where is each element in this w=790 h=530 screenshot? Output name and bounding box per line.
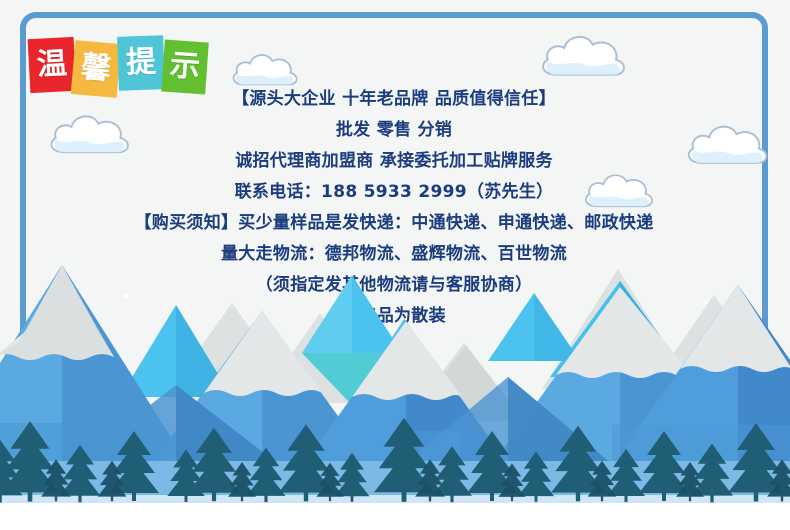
cloud-top-right xyxy=(536,28,636,83)
promo-line-1: 【源头大企业 十年老品牌 品质值得信任】 xyxy=(20,84,768,115)
promo-line-2: 批发 零售 分销 xyxy=(20,115,768,146)
mountain-scenery xyxy=(0,265,790,530)
badge-tile-3: 提 xyxy=(117,35,165,91)
promo-line-3: 诚招代理商加盟商 承接委托加工贴牌服务 xyxy=(20,146,768,177)
promo-banner: 温 馨 提 示 【源头大企业 十年老品牌 品质值得信任】 批发 零售 分销 诚招… xyxy=(0,0,790,530)
promo-line-5: 【购买须知】买少量样品是发快递：中通快递、申通快递、邮政快递 xyxy=(20,208,768,239)
promo-line-4-phone: 联系电话：188 5933 2999（苏先生） xyxy=(20,177,768,208)
baseline-cover xyxy=(0,503,790,530)
